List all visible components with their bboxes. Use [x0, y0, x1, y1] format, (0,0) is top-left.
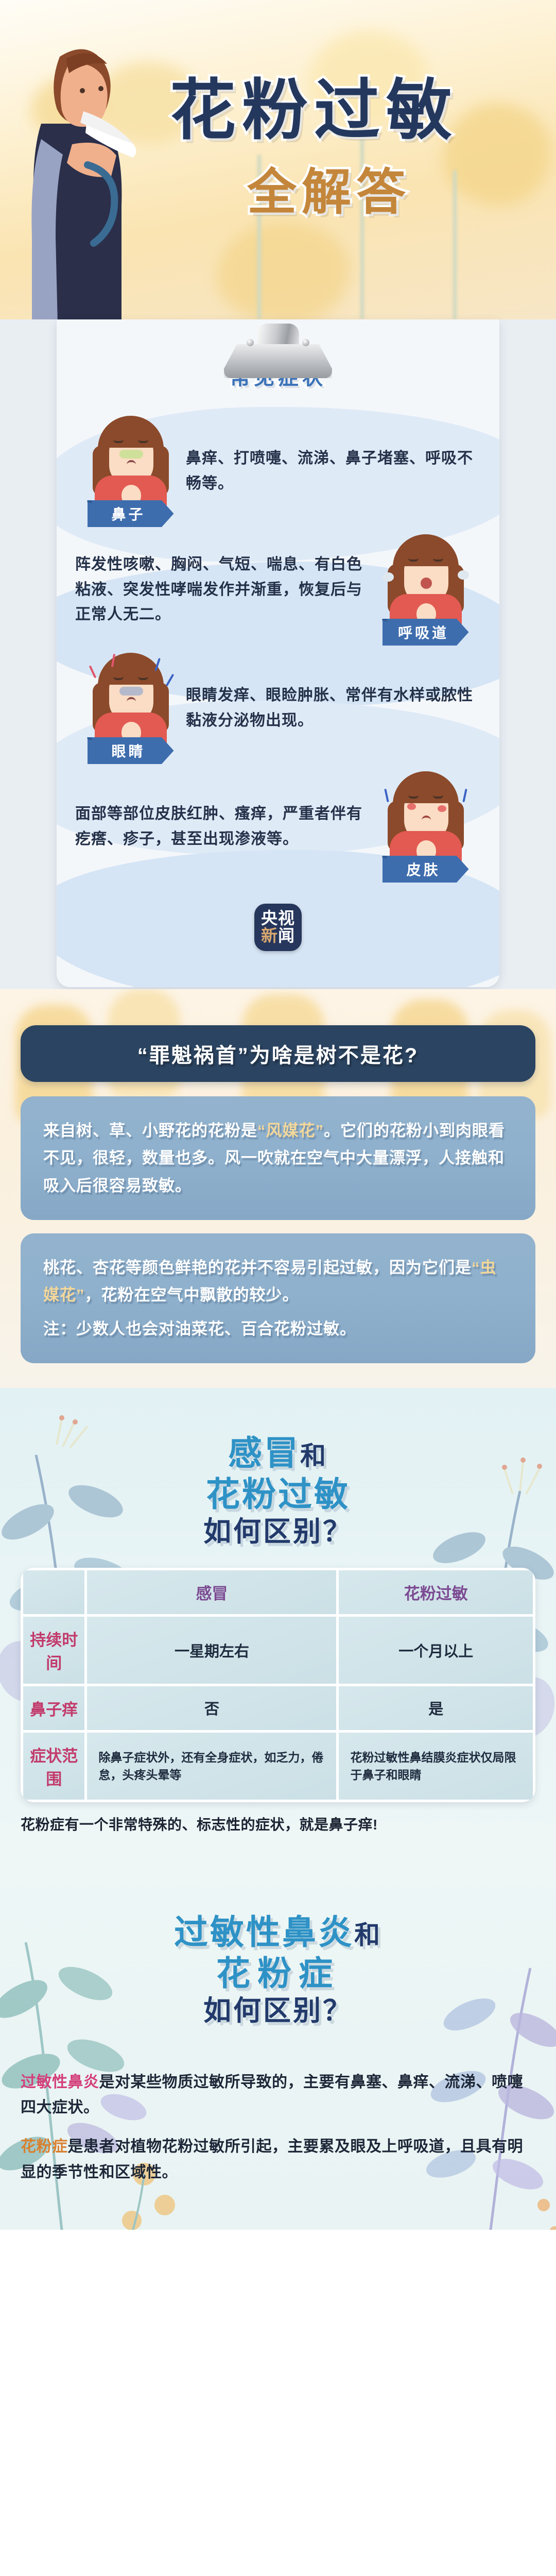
- avatar-skin: [385, 771, 467, 863]
- definitions-block: 过敏性鼻炎是对某些物质过敏所导致的，主要有鼻塞、鼻痒、流涕、喷嚏四大症状。 花粉…: [21, 2070, 535, 2185]
- sneezing-person-illustration: [10, 36, 165, 319]
- keyword-allergic-rhinitis: 过敏性鼻炎: [21, 2074, 99, 2091]
- heading-line-3: 如何区别？: [0, 1515, 556, 1549]
- cell-range-allergy: 花粉过敏性鼻结膜炎症状仅局限于鼻子和眼睛: [339, 1733, 533, 1800]
- comparison-table: 感冒 花粉过敏 持续时间 一星期左右 一个月以上 鼻子痒 否 是 症状范围 除鼻…: [21, 1568, 535, 1802]
- symptoms-clipboard: 常见症状 鼻子 鼻痒、打喷嚏、流涕、鼻子堵塞、呼吸不畅等。: [0, 319, 556, 989]
- hero-title-group: 花粉过敏 全解答: [170, 77, 546, 224]
- clipboard-clamp-icon: [224, 324, 332, 380]
- symptom-badge-respiratory: 呼吸道: [383, 619, 469, 646]
- section-culprit: “罪魁祸首”为啥是树不是花? 来自树、草、小野花的花粉是“风媒花”。它们的花粉小…: [0, 989, 556, 1388]
- cell-range-cold: 除鼻子症状外，还有全身症状，如乏力，倦怠，头疼头晕等: [87, 1733, 336, 1800]
- symptom-figure: 鼻子: [75, 416, 186, 527]
- symptom-text-nose: 鼻痒、打喷嚏、流涕、鼻子堵塞、呼吸不畅等。: [186, 446, 481, 496]
- table-header-row: 感冒 花粉过敏: [23, 1570, 533, 1614]
- rhinitis-heading: 过敏性鼻炎和 花粉症 如何区别？: [0, 1870, 556, 2033]
- hero-banner: 花粉过敏 全解答: [0, 0, 556, 319]
- cold-vs-pollen-heading: 感冒和 花粉过敏 如何区别？: [0, 1417, 556, 1554]
- table-header-corner: [23, 1570, 84, 1614]
- symptom-figure: 皮肤: [370, 771, 481, 883]
- avatar-eyes: [90, 653, 172, 744]
- cell-itchy-allergy: 是: [339, 1686, 533, 1730]
- avatar-respiratory: [385, 534, 467, 626]
- culprit-paragraph-1: 来自树、草、小野花的花粉是“风媒花”。它们的花粉小到肉眼看不见，很轻，数量也多。…: [43, 1117, 513, 1199]
- culprit-paragraph-2: 桃花、杏花等颜色鲜艳的花并不容易引起过敏，因为它们是“虫媒花”，花粉在空气中飘散…: [43, 1254, 513, 1309]
- definition-rhinitis: 过敏性鼻炎是对某些物质过敏所导致的，主要有鼻塞、鼻痒、流涕、喷嚏四大症状。: [21, 2070, 535, 2121]
- table-row: 持续时间 一星期左右 一个月以上: [23, 1617, 533, 1684]
- row-label-symptom-range: 症状范围: [23, 1733, 84, 1800]
- infographic-page: 花粉过敏 全解答 常见症状: [0, 0, 556, 2576]
- definition-hayfever: 花粉症是患者对植物花粉过敏所引起，主要累及眼及上呼吸道，且具有明显的季节性和区域…: [21, 2134, 535, 2185]
- heading-line-2: 花粉症: [0, 1953, 556, 1994]
- heading-line-3: 如何区别？: [0, 1994, 556, 2028]
- row-label-duration: 持续时间: [23, 1617, 84, 1684]
- symptom-row-nose: 鼻子 鼻痒、打喷嚏、流涕、鼻子堵塞、呼吸不畅等。: [57, 412, 499, 531]
- culprit-panel-1: 来自树、草、小野花的花粉是“风媒花”。它们的花粉小到肉眼看不见，很轻，数量也多。…: [21, 1096, 535, 1220]
- decor-flower-blur: [216, 222, 350, 319]
- table-row: 症状范围 除鼻子症状外，还有全身症状，如乏力，倦怠，头疼头晕等 花粉过敏性鼻结膜…: [23, 1733, 533, 1800]
- culprit-heading: “罪魁祸首”为啥是树不是花?: [21, 1039, 535, 1069]
- avatar-nose: [90, 416, 172, 507]
- page-title: 花粉过敏: [170, 77, 546, 145]
- symptom-row-skin: 皮肤 面部等部位皮肤红肿、瘙痒，严重者伴有疙瘩、疹子，甚至出现渗液等。: [57, 768, 499, 886]
- symptom-text-respiratory: 阵发性咳嗽、胸闷、气短、喘息、有白色粘液、突发性哮喘发作并渐重，恢复后与正常人无…: [75, 552, 370, 628]
- cell-duration-cold: 一星期左右: [87, 1617, 336, 1684]
- cell-itchy-cold: 否: [87, 1686, 336, 1730]
- symptom-badge-nose: 鼻子: [88, 500, 174, 527]
- heading-line-2: 花粉过敏: [0, 1473, 556, 1515]
- section-cold-vs-pollen: 感冒和 花粉过敏 如何区别？ 感冒 花粉过敏 持续时间 一星期左右 一个月以上 …: [0, 1388, 556, 1855]
- culprit-panel-2: 桃花、杏花等颜色鲜艳的花并不容易引起过敏，因为它们是“虫媒花”，花粉在空气中飘散…: [21, 1233, 535, 1363]
- heading-line-1: 感冒和: [0, 1432, 556, 1474]
- page-subtitle: 全解答: [247, 152, 546, 224]
- logo-line-1: 央视: [261, 910, 295, 927]
- comparison-note: 花粉症有一个非常特殊的、标志性的症状，就是鼻子痒!: [21, 1814, 535, 1834]
- symptom-text-skin: 面部等部位皮肤红肿、瘙痒，严重者伴有疙瘩、疹子，甚至出现渗液等。: [75, 802, 370, 852]
- culprit-heading-bar: “罪魁祸首”为啥是树不是花?: [21, 1025, 535, 1082]
- symptom-badge-eyes: 眼睛: [88, 737, 174, 764]
- row-label-itchy-nose: 鼻子痒: [23, 1686, 84, 1730]
- cctv-news-logo: 央视 新闻: [254, 904, 302, 951]
- highlight-wind-pollinated: “风媒花”: [257, 1122, 324, 1140]
- keyword-hay-fever: 花粉症: [21, 2138, 68, 2155]
- table-header-allergy: 花粉过敏: [339, 1570, 533, 1614]
- table-header-cold: 感冒: [87, 1570, 336, 1614]
- symptom-figure: 眼睛: [75, 653, 186, 764]
- symptom-row-eyes: 眼睛 眼睛发痒、眼睑肿胀、常伴有水样或脓性黏液分泌物出现。: [57, 649, 499, 768]
- table-row: 鼻子痒 否 是: [23, 1686, 533, 1730]
- heading-line-1: 过敏性鼻炎和: [0, 1911, 556, 1953]
- logo-line-2: 新闻: [261, 927, 295, 945]
- section-rhinitis-vs-hayfever: 过敏性鼻炎和 花粉症 如何区别？ 过敏性鼻炎是对某些物质过敏所导致的，主要有鼻塞…: [0, 1855, 556, 2230]
- symptoms-paper: 常见症状 鼻子 鼻痒、打喷嚏、流涕、鼻子堵塞、呼吸不畅等。: [57, 319, 499, 987]
- cell-duration-allergy: 一个月以上: [339, 1617, 533, 1684]
- culprit-note: 注：少数人也会对油菜花、百合花粉过敏。: [43, 1315, 513, 1343]
- symptom-row-respiratory: 呼吸道 阵发性咳嗽、胸闷、气短、喘息、有白色粘液、突发性哮喘发作并渐重，恢复后与…: [57, 531, 499, 649]
- symptom-text-eyes: 眼睛发痒、眼睑肿胀、常伴有水样或脓性黏液分泌物出现。: [186, 683, 481, 733]
- symptom-figure: 呼吸道: [370, 534, 481, 646]
- symptom-badge-skin: 皮肤: [383, 856, 469, 883]
